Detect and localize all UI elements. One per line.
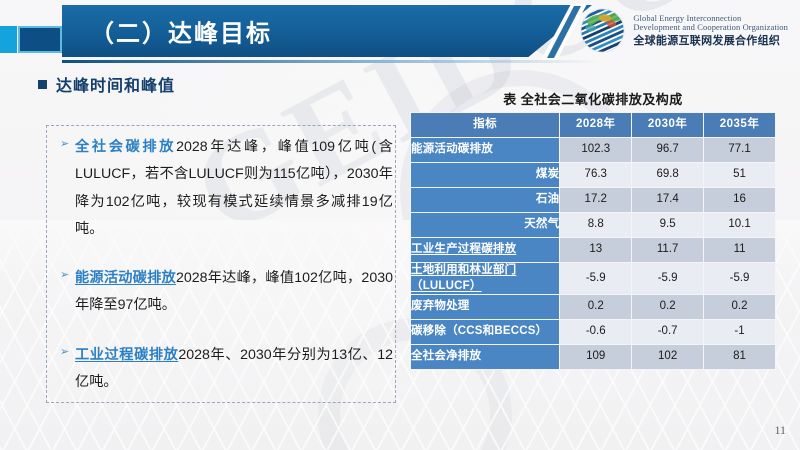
bullet-list: ➢ 全社会碳排放2028年达峰，峰值109亿吨(含LULUCF，若不含LULUC… (60, 134, 393, 418)
decoration-square-light (0, 26, 17, 53)
table-row-label: 石油 (411, 188, 559, 212)
table-body: 能源活动碳排放102.396.777.1煤炭76.369.851石油17.217… (411, 138, 775, 369)
table-row: 天然气8.89.510.1 (411, 213, 775, 237)
table-row: 煤炭76.369.851 (411, 163, 775, 187)
list-item-keyword: 能源活动碳排放 (75, 270, 176, 286)
table-cell: 0.2 (704, 295, 775, 319)
table-cell: 10.1 (704, 213, 775, 237)
arrow-bullet-icon: ➢ (60, 139, 75, 150)
table-cell: 8.8 (560, 213, 631, 237)
table-cell: 9.5 (632, 213, 703, 237)
table-head: 指标 2028年 2030年 2035年 (411, 113, 775, 137)
list-item: ➢ 工业过程碳排放2028年、2030年分别为13亿、12亿吨。 (60, 342, 393, 397)
table-cell: 11 (704, 238, 775, 262)
column-header-indicator: 指标 (411, 113, 559, 137)
logo-text-block: Global Energy Interconnection Developmen… (633, 14, 788, 47)
title-banner: （二）达峰目标 (62, 5, 592, 57)
table-cell: 96.7 (632, 138, 703, 162)
table-cell: 11.7 (632, 238, 703, 262)
table-row-label: 能源活动碳排放 (411, 138, 559, 162)
section-bullet-icon (38, 80, 47, 89)
header-decoration (0, 26, 62, 53)
table-cell: 69.8 (632, 163, 703, 187)
table-row-label: 煤炭 (411, 163, 559, 187)
table-cell: -5.9 (704, 263, 775, 294)
table-header-row: 指标 2028年 2030年 2035年 (411, 113, 775, 137)
table-cell: 81 (704, 345, 775, 369)
organization-logo: Global Energy Interconnection Developmen… (579, 7, 788, 54)
table-cell: -5.9 (560, 263, 631, 294)
table-caption: 表 全社会二氧化碳排放及构成 (410, 89, 776, 108)
table-row: 废弃物处理0.20.20.2 (411, 295, 775, 319)
section-heading: 达峰时间和峰值 (38, 72, 175, 96)
slide-canvas: GEIDCO （二）达峰目标 (0, 0, 800, 450)
table-cell: 17.4 (632, 188, 703, 212)
header-underline (62, 60, 600, 63)
column-header-2035: 2035年 (704, 113, 775, 137)
list-item-keyword: 工业过程碳排放 (75, 347, 178, 363)
emissions-table: 指标 2028年 2030年 2035年 能源活动碳排放102.396.777.… (410, 112, 776, 370)
list-item-text: 工业过程碳排放2028年、2030年分别为13亿、12亿吨。 (75, 342, 393, 397)
table-row: 碳移除（CCS和BECCS）-0.6-0.7-1 (411, 320, 775, 344)
table-cell: 76.3 (560, 163, 631, 187)
table-row-label: 全社会净排放 (411, 345, 559, 369)
logo-english-line2: Development and Cooperation Organization (633, 23, 788, 33)
table-cell: 0.2 (632, 295, 703, 319)
table-row: 全社会净排放10910281 (411, 345, 775, 369)
table-row-label: 天然气 (411, 213, 559, 237)
table-row-label: 工业生产过程碳排放 (411, 238, 559, 262)
table-cell: 17.2 (560, 188, 631, 212)
list-item-keyword: 全社会碳排放 (75, 139, 176, 155)
page-title: （二）达峰目标 (90, 14, 272, 49)
table-row-label: 土地利用和林业部门（LULUCF） (411, 263, 559, 294)
column-header-2028: 2028年 (560, 113, 631, 137)
table-cell: 77.1 (704, 138, 775, 162)
decoration-square-dark (18, 26, 62, 53)
table-row: 工业生产过程碳排放1311.711 (411, 238, 775, 262)
table-row-label: 碳移除（CCS和BECCS） (411, 320, 559, 344)
table-cell: 16 (704, 188, 775, 212)
arrow-bullet-icon: ➢ (60, 270, 75, 281)
table-cell: 109 (560, 345, 631, 369)
table-row: 能源活动碳排放102.396.777.1 (411, 138, 775, 162)
list-item-text: 能源活动碳排放2028年达峰，峰值102亿吨，2030年降至97亿吨。 (75, 265, 393, 320)
table-cell: 102 (632, 345, 703, 369)
table-cell: -5.9 (632, 263, 703, 294)
page-number: 11 (774, 423, 786, 438)
table-cell: 0.2 (560, 295, 631, 319)
table-row-label: 废弃物处理 (411, 295, 559, 319)
slide-header: （二）达峰目标 (0, 0, 800, 68)
table-row: 土地利用和林业部门（LULUCF）-5.9-5.9-5.9 (411, 263, 775, 294)
table-cell: -0.7 (632, 320, 703, 344)
table-cell: 13 (560, 238, 631, 262)
section-title: 达峰时间和峰值 (56, 72, 175, 96)
table-row: 石油17.217.416 (411, 188, 775, 212)
arrow-bullet-icon: ➢ (60, 347, 75, 358)
table-cell: 51 (704, 163, 775, 187)
table-cell: -0.6 (560, 320, 631, 344)
table-cell: -1 (704, 320, 775, 344)
list-item: ➢ 全社会碳排放2028年达峰，峰值109亿吨(含LULUCF，若不含LULUC… (60, 134, 393, 243)
logo-chinese-name: 全球能源互联网发展合作组织 (633, 35, 788, 47)
list-item: ➢ 能源活动碳排放2028年达峰，峰值102亿吨，2030年降至97亿吨。 (60, 265, 393, 320)
column-header-2030: 2030年 (632, 113, 703, 137)
globe-icon (579, 7, 626, 54)
list-item-text: 全社会碳排放2028年达峰，峰值109亿吨(含LULUCF，若不含LULUCF则… (75, 134, 393, 243)
table-cell: 102.3 (560, 138, 631, 162)
